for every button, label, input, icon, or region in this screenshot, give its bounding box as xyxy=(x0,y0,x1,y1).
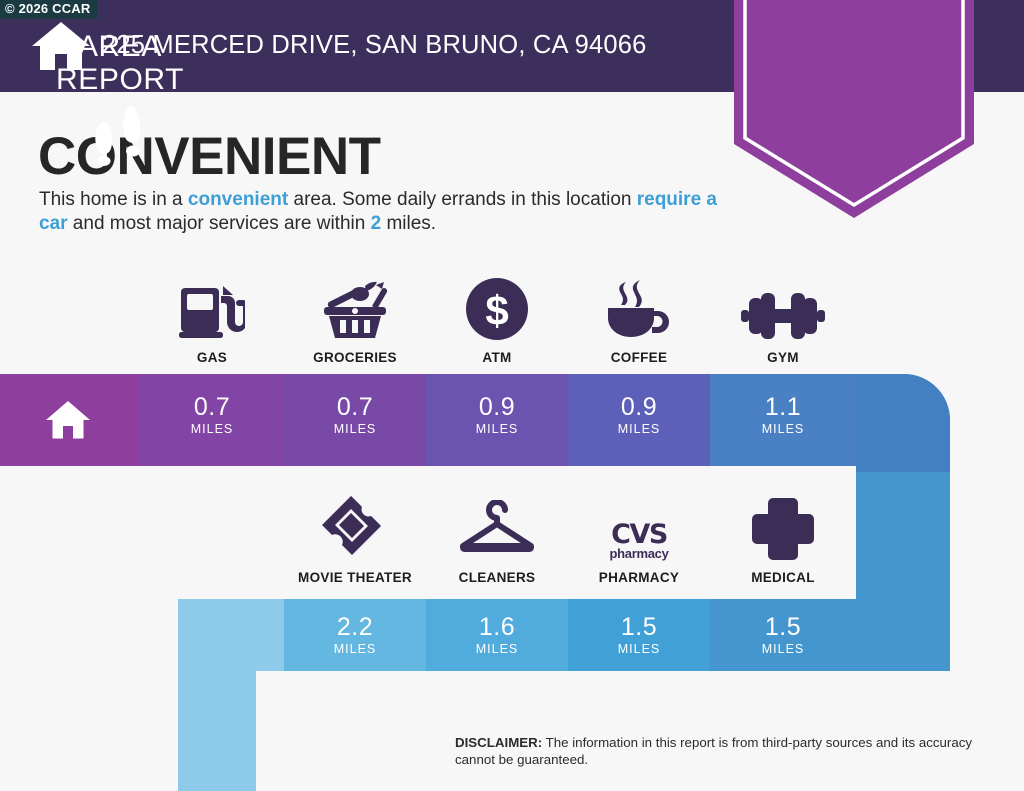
amenity-groceries: GROCERIES xyxy=(284,278,426,365)
amenity-label: GYM xyxy=(710,350,856,365)
amenity-label: PHARMACY xyxy=(568,570,710,585)
amenity-gas: GAS xyxy=(140,278,284,365)
medical-cross-icon xyxy=(710,498,856,560)
amenity-medical: MEDICAL xyxy=(710,498,856,585)
footprints-icon xyxy=(92,104,150,170)
amenity-gym: GYM xyxy=(710,278,856,365)
copyright-watermark: © 2026 CCAR xyxy=(0,0,97,19)
movie-ticket-icon xyxy=(284,498,426,560)
cvs-sub-text: pharmacy xyxy=(609,547,668,560)
distance-row-2-bar xyxy=(178,599,976,673)
amenity-label: MOVIE THEATER xyxy=(284,570,426,585)
cvs-pharmacy-logo: CVS pharmacy xyxy=(568,498,710,560)
disclaimer: DISCLAIMER: The information in this repo… xyxy=(455,734,990,768)
area-report-badge xyxy=(734,0,974,218)
amenity-label: GROCERIES xyxy=(284,350,426,365)
amenity-pharmacy: CVS pharmacy PHARMACY xyxy=(568,498,710,585)
amenity-movie-theater: MOVIE THEATER xyxy=(284,498,426,585)
grocery-basket-icon xyxy=(284,278,426,340)
coffee-cup-icon xyxy=(568,278,710,340)
amenity-cleaners: CLEANERS xyxy=(426,498,568,585)
dollar-circle-icon: $ xyxy=(426,278,568,340)
gas-pump-icon xyxy=(140,278,284,340)
home-icon xyxy=(45,400,91,440)
amenity-label: MEDICAL xyxy=(710,570,856,585)
amenity-label: COFFEE xyxy=(568,350,710,365)
amenity-label: GAS xyxy=(140,350,284,365)
amenity-coffee: COFFEE xyxy=(568,278,710,365)
dumbbell-icon xyxy=(710,278,856,340)
cvs-brand-text: CVS xyxy=(609,521,668,548)
disclaimer-label: DISCLAIMER: xyxy=(455,735,542,750)
amenity-atm: $ ATM xyxy=(426,278,568,365)
amenity-label: ATM xyxy=(426,350,568,365)
amenity-label: CLEANERS xyxy=(426,570,568,585)
svg-text:$: $ xyxy=(485,287,508,334)
clothes-hanger-icon xyxy=(426,498,568,560)
track-left-tail xyxy=(178,599,256,791)
